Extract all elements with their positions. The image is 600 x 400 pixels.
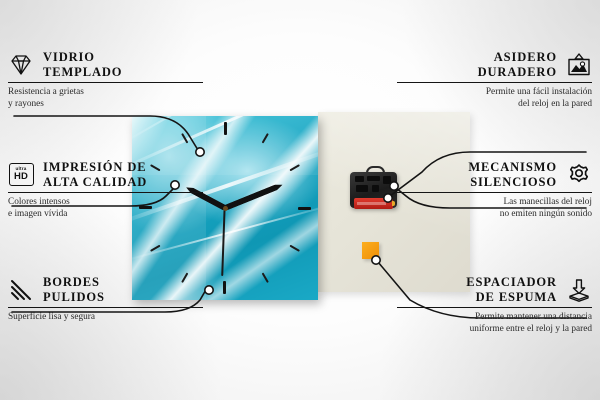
mechanism-detail xyxy=(372,185,379,192)
clock-center-cap xyxy=(223,206,228,211)
mechanism-detail xyxy=(356,185,368,192)
feature-vidrio-templado[interactable]: VIDRIO TEMPLADO Resistencia a grietas y … xyxy=(8,50,203,110)
feature-title: ASIDERO DURADERO xyxy=(478,50,557,79)
feature-bordes-pulidos[interactable]: BORDES PULIDOS Superficie lisa y segura xyxy=(8,275,203,324)
feature-divider xyxy=(397,307,592,308)
feature-divider xyxy=(397,82,592,83)
down-arrow-stack-icon xyxy=(566,277,592,303)
mechanism-detail xyxy=(383,176,391,184)
feature-impresion-alta-calidad[interactable]: ultra HD IMPRESIÓN DE ALTA CALIDAD Color… xyxy=(8,160,203,220)
feature-title: ESPACIADOR DE ESPUMA xyxy=(466,275,557,304)
feature-title: VIDRIO TEMPLADO xyxy=(43,50,122,79)
feature-header: BORDES PULIDOS xyxy=(8,275,203,304)
feature-divider xyxy=(8,82,203,83)
feature-header: VIDRIO TEMPLADO xyxy=(8,50,203,79)
feature-header: ESPACIADOR DE ESPUMA xyxy=(397,275,592,304)
infographic-canvas: VIDRIO TEMPLADO Resistencia a grietas y … xyxy=(0,0,600,400)
feature-espaciador-de-espuma[interactable]: ESPACIADOR DE ESPUMA Permite mantener un… xyxy=(397,275,592,335)
feature-mecanismo-silencioso[interactable]: MECANISMO SILENCIOSO Las manecillas del … xyxy=(397,160,592,220)
framed-picture-icon xyxy=(566,52,592,78)
mechanism-detail xyxy=(367,176,380,181)
clock-hour-marker xyxy=(229,207,311,209)
ultra-hd-icon: ultra HD xyxy=(8,162,34,188)
gear-icon xyxy=(566,162,592,188)
foam-spacer-part xyxy=(362,242,379,259)
feature-title: MECANISMO SILENCIOSO xyxy=(468,160,557,189)
battery xyxy=(354,198,393,209)
clock-movement-part xyxy=(350,166,397,208)
hd-badge-main: HD xyxy=(14,172,28,182)
feature-title: IMPRESIÓN DE ALTA CALIDAD xyxy=(43,160,147,189)
feature-description: Permite mantener una distancia uniforme … xyxy=(397,312,592,335)
feature-description: Superficie lisa y segura xyxy=(8,312,203,323)
feature-title: BORDES PULIDOS xyxy=(43,275,105,304)
feature-description: Resistencia a grietas y rayones xyxy=(8,87,203,110)
clock-hour-marker xyxy=(224,122,226,204)
feature-header: ultra HD IMPRESIÓN DE ALTA CALIDAD xyxy=(8,160,203,189)
feature-divider xyxy=(8,192,203,193)
mechanism-detail xyxy=(355,176,364,182)
feature-header: MECANISMO SILENCIOSO xyxy=(397,160,592,189)
mechanism-body xyxy=(350,172,397,208)
feature-header: ASIDERO DURADERO xyxy=(397,50,592,79)
battery-label xyxy=(357,202,386,205)
feature-asidero-duradero[interactable]: ASIDERO DURADERO Permite una fácil insta… xyxy=(397,50,592,110)
feature-description: Las manecillas del reloj no emiten ningú… xyxy=(397,197,592,220)
diamond-icon xyxy=(8,52,34,78)
feature-description: Permite una fácil instalación del reloj … xyxy=(397,87,592,110)
feature-divider xyxy=(8,307,203,308)
feature-description: Colores intensos e imagen vívida xyxy=(8,197,203,220)
feature-divider xyxy=(397,192,592,193)
diagonal-lines-icon xyxy=(8,277,34,303)
